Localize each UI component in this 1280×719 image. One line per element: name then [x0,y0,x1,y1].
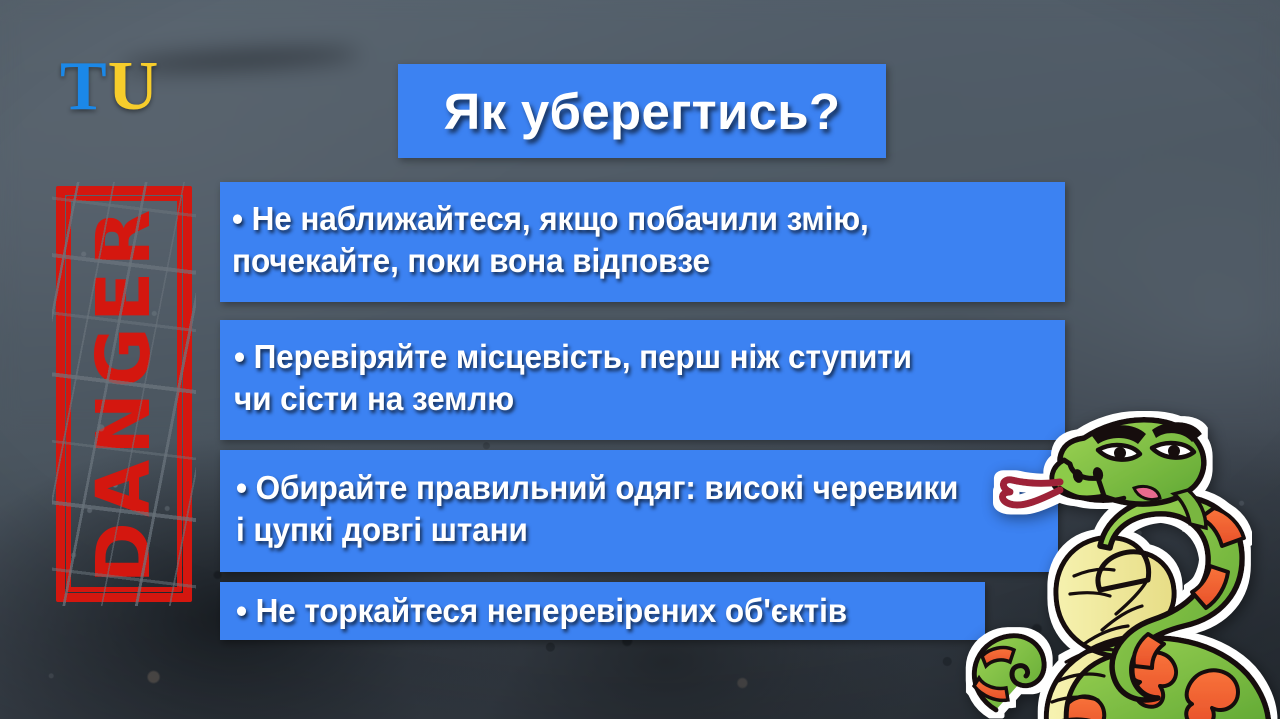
stamp-label: DANGER [87,205,161,584]
slide-canvas: TU DANGER Як уберегтись? • Не наближайте… [0,0,1280,719]
title-banner: Як уберегтись? [398,64,886,158]
bullet-panel-3: • Обирайте правильний одяг: високі черев… [220,450,1058,572]
tu-logo: TU [60,52,159,122]
cartoon-snake-icon [952,404,1280,719]
logo-letter-t: T [60,48,108,125]
danger-stamp: DANGER [56,186,192,602]
bullet-panel-4: • Не торкайтеся неперевірених об'єктів [220,582,985,640]
bullet-text-2: • Перевіряйте місцевість, перш ніж ступи… [234,336,1018,420]
bullet-text-3: • Обирайте правильний одяг: високі черев… [236,467,1011,551]
bullet-text-4: • Не торкайтеся неперевірених об'єктів [236,590,942,632]
bullet-panel-2: • Перевіряйте місцевість, перш ніж ступи… [220,320,1065,440]
bullet-panel-1: • Не наближайтеся, якщо побачили змію, п… [220,182,1065,302]
bullet-text-1: • Не наближайтеся, якщо побачили змію, п… [232,198,1018,282]
page-title: Як уберегтись? [444,86,841,137]
logo-letter-u: U [108,48,160,125]
